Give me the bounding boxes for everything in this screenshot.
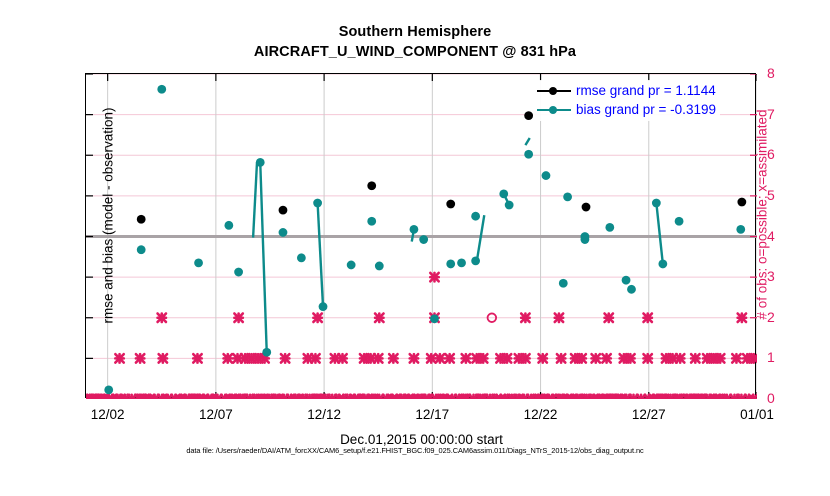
x-tick-1: 12/07 (176, 407, 256, 422)
chart-title: Southern Hemisphere AIRCRAFT_U_WIND_COMP… (0, 22, 830, 62)
y-tick-right-1: 1 (767, 349, 827, 365)
legend-marker-bias (537, 104, 571, 116)
x-tick-0: 12/02 (68, 407, 148, 422)
y-tick-right-4: 4 (767, 228, 827, 244)
y-tick-right-0: 0 (767, 390, 827, 406)
chart-title-line2: AIRCRAFT_U_WIND_COMPONENT @ 831 hPa (0, 42, 830, 62)
y-tick-right-3: 3 (767, 268, 827, 284)
x-tick-3: 12/17 (392, 407, 472, 422)
y-tick-right-2: 2 (767, 309, 827, 325)
legend-item-bias[interactable]: bias grand pr = -0.3199 (537, 100, 716, 119)
x-tick-4: 12/22 (501, 407, 581, 422)
x-tick-6: 01/01 (717, 407, 797, 422)
legend-label-rmse: rmse grand pr = 1.1144 (576, 81, 716, 100)
legend-label-bias: bias grand pr = -0.3199 (576, 100, 716, 119)
y-tick-right-8: 8 (767, 65, 827, 81)
legend-marker-rmse (537, 85, 571, 97)
legend-item-rmse[interactable]: rmse grand pr = 1.1144 (537, 81, 716, 100)
y-tick-right-5: 5 (767, 187, 827, 203)
x-axis-label: Dec.01,2015 00:00:00 start (86, 432, 757, 447)
y-tick-right-6: 6 (767, 146, 827, 162)
x-tick-2: 12/12 (284, 407, 364, 422)
plot-canvas (86, 74, 757, 399)
y-tick-right-7: 7 (767, 106, 827, 122)
chart-title-line1: Southern Hemisphere (0, 22, 830, 42)
data-file-footer: data file: /Users/raeder/DAI/ATM_forcXX/… (0, 446, 830, 455)
x-tick-5: 12/27 (609, 407, 689, 422)
legend: rmse grand pr = 1.1144 bias grand pr = -… (533, 80, 720, 121)
plot-area[interactable]: rmse and bias (model - observation) # of… (85, 73, 756, 398)
figure-root: Southern Hemisphere AIRCRAFT_U_WIND_COMP… (0, 0, 830, 470)
